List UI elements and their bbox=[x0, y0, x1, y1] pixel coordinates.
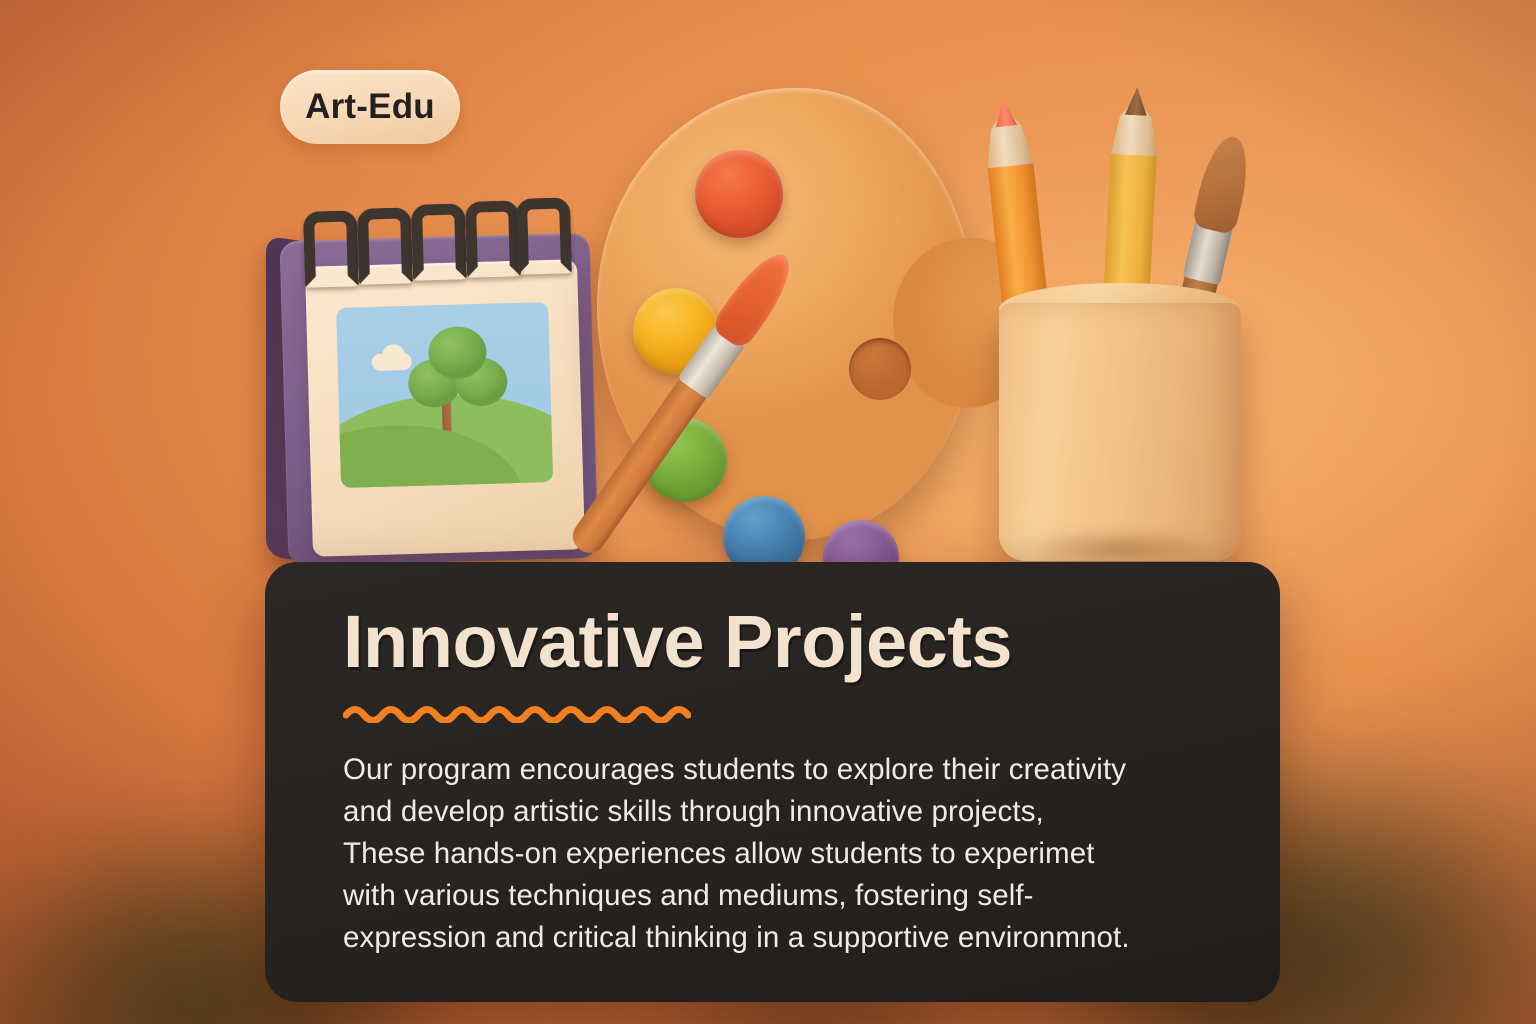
page-title: Innovative Projects bbox=[343, 604, 1232, 679]
drawing-cloud-icon bbox=[371, 353, 411, 371]
spiral-ring-2 bbox=[357, 207, 413, 284]
landscape-drawing bbox=[336, 302, 553, 488]
cup-body bbox=[999, 303, 1241, 561]
sketchpad-paper bbox=[305, 259, 585, 556]
pencil-yellow-tip bbox=[1125, 87, 1148, 116]
poster-canvas: Art-Edu bbox=[0, 0, 1536, 1024]
paint-palette-illustration bbox=[597, 88, 1017, 558]
spiral-ring-5 bbox=[516, 197, 572, 274]
pencil-cup-illustration bbox=[975, 55, 1245, 565]
spiral-ring-4 bbox=[465, 200, 521, 277]
brand-badge-label: Art-Edu bbox=[305, 87, 435, 127]
page-description: Our program encourages students to explo… bbox=[343, 749, 1203, 959]
spiral-ring-3 bbox=[411, 203, 467, 280]
spiral-ring-1 bbox=[303, 210, 359, 287]
brand-badge[interactable]: Art-Edu bbox=[280, 70, 460, 144]
info-card: Innovative Projects Our program encourag… bbox=[265, 562, 1280, 1002]
wavy-underline-icon bbox=[343, 701, 691, 723]
info-card-content: Innovative Projects Our program encourag… bbox=[343, 604, 1232, 989]
paint-dot-orange bbox=[695, 150, 783, 238]
palette-thumb-hole bbox=[849, 338, 911, 400]
sketchpad-illustration bbox=[262, 215, 607, 575]
